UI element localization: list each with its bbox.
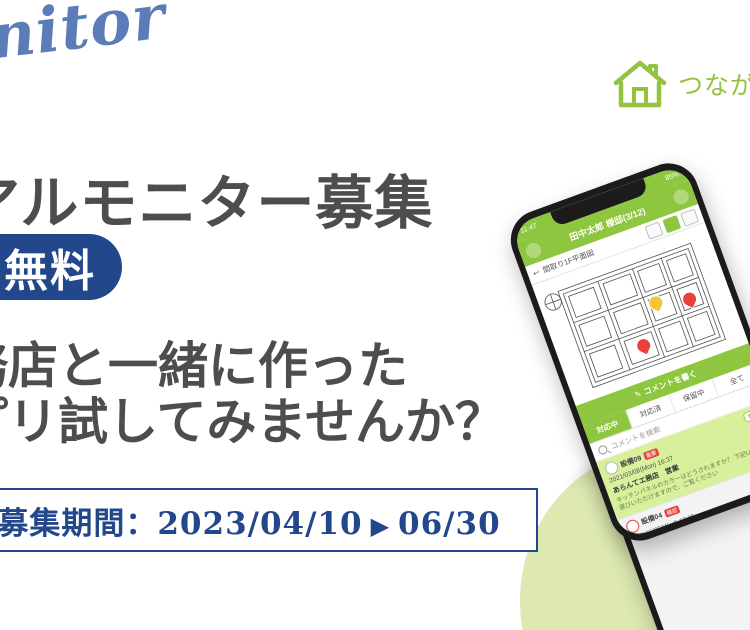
phone-mockup-front: 11:47 85% 田中太郎 様邸(3/12) ↩ 間取り1F平面図 [502, 155, 750, 549]
sub-copy: 務店と一緒に作った プリ試してみませんか？ [0, 338, 505, 450]
map-view-icon[interactable] [662, 215, 681, 233]
brand-name: つながる [678, 66, 750, 102]
script-logo: monitor [0, 0, 204, 87]
free-badge-label: 無料 [4, 235, 96, 299]
status-badge: 重要 [642, 447, 659, 460]
status-battery: 85% [664, 171, 680, 182]
pencil-icon: ✎ [633, 389, 642, 400]
back-icon[interactable]: ↩ [532, 268, 541, 279]
period-end: 06/30 [398, 506, 501, 542]
house-outline-icon [612, 58, 668, 110]
menu-icon[interactable] [524, 240, 543, 259]
sub-copy-line-2: プリ試してみませんか？ [0, 394, 505, 450]
sub-copy-line-1: 務店と一緒に作った [0, 338, 505, 394]
account-icon[interactable] [671, 187, 690, 206]
period-label: 募集期間： [0, 506, 157, 542]
grid-view-icon[interactable] [680, 208, 699, 226]
status-time: 11:47 [520, 223, 538, 235]
period-start: 2023/04/10 [157, 506, 362, 542]
application-period-text: 募集期間：2023/04/10▶06/30 [0, 498, 501, 543]
free-badge: 無料 [0, 234, 122, 300]
headline: アルモニター募集 [0, 156, 433, 240]
period-arrow-icon: ▶ [371, 511, 390, 540]
list-view-icon[interactable] [644, 221, 663, 239]
search-icon [597, 444, 609, 456]
status-badge: 確認 [664, 505, 681, 518]
promo-banner: monitor つながる アルモニター募集 無料 務店と一緒に作った プリ試して… [0, 0, 750, 630]
application-period-box: 募集期間：2023/04/10▶06/30 [0, 488, 538, 552]
brand-lockup: つながる [612, 58, 750, 110]
